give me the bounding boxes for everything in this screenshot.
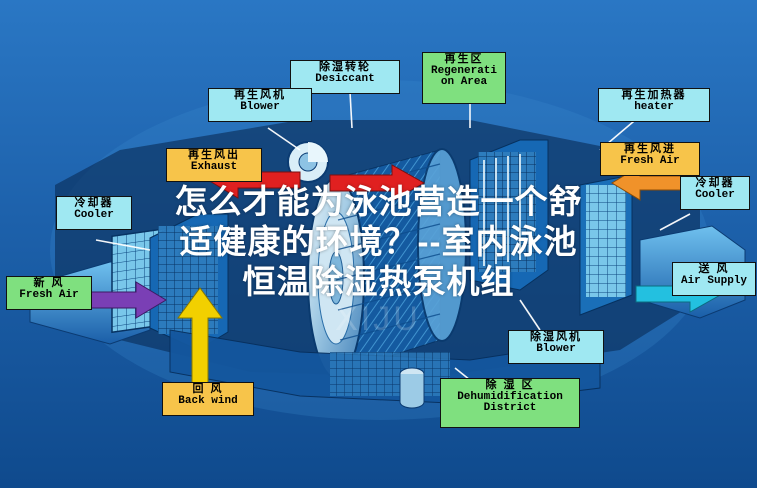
- label-dehumidification-district-cn: 除 湿 区: [443, 380, 577, 392]
- label-regeneration-area-cn: 再生区: [425, 54, 503, 66]
- label-regeneration-exhaust-en: Exhaust: [169, 162, 259, 174]
- label-regeneration-inlet: 再生风进 Fresh Air: [600, 142, 700, 176]
- label-regeneration-area-en: Regenerati on Area: [425, 66, 503, 89]
- label-regeneration-blower: 再生风机 Blower: [208, 88, 312, 122]
- label-regeneration-inlet-en: Fresh Air: [603, 156, 697, 168]
- label-dehumidification-blower: 除湿风机 Blower: [508, 330, 604, 364]
- screenshot-root: XIJU 除湿转轮 Desiccant 再生风机 Blower 再生区 Rege…: [0, 0, 757, 488]
- label-back-wind-en: Back wind: [165, 396, 251, 408]
- label-dehumidification-district: 除 湿 区 Dehumidification District: [440, 378, 580, 428]
- label-dehumidification-district-en: Dehumidification District: [443, 392, 577, 415]
- label-back-wind: 回 风 Back wind: [162, 382, 254, 416]
- headline-line-3: 恒温除湿热泵机组: [0, 262, 757, 302]
- label-regeneration-inlet-cn: 再生风进: [603, 144, 697, 156]
- label-regeneration-exhaust-cn: 再生风出: [169, 150, 259, 162]
- headline-line-1: 怎么才能为泳池营造一个舒: [0, 182, 757, 222]
- label-regeneration-exhaust: 再生风出 Exhaust: [166, 148, 262, 182]
- label-regeneration-area: 再生区 Regenerati on Area: [422, 52, 506, 104]
- label-desiccant-wheel-en: Desiccant: [293, 74, 397, 86]
- headline-overlay: 怎么才能为泳池营造一个舒 适健康的环境？--室内泳池 恒温除湿热泵机组: [0, 182, 757, 302]
- svg-text:XIJU: XIJU: [335, 300, 421, 338]
- label-regeneration-heater-cn: 再生加热器: [601, 90, 707, 102]
- label-desiccant-wheel-cn: 除湿转轮: [293, 62, 397, 74]
- label-regeneration-blower-en: Blower: [211, 102, 309, 114]
- label-back-wind-cn: 回 风: [165, 384, 251, 396]
- label-regeneration-blower-cn: 再生风机: [211, 90, 309, 102]
- label-dehumidification-blower-cn: 除湿风机: [511, 332, 601, 344]
- headline-line-2: 适健康的环境？--室内泳池: [0, 222, 757, 262]
- label-regeneration-heater: 再生加热器 heater: [598, 88, 710, 122]
- label-dehumidification-blower-en: Blower: [511, 344, 601, 356]
- label-regeneration-heater-en: heater: [601, 102, 707, 114]
